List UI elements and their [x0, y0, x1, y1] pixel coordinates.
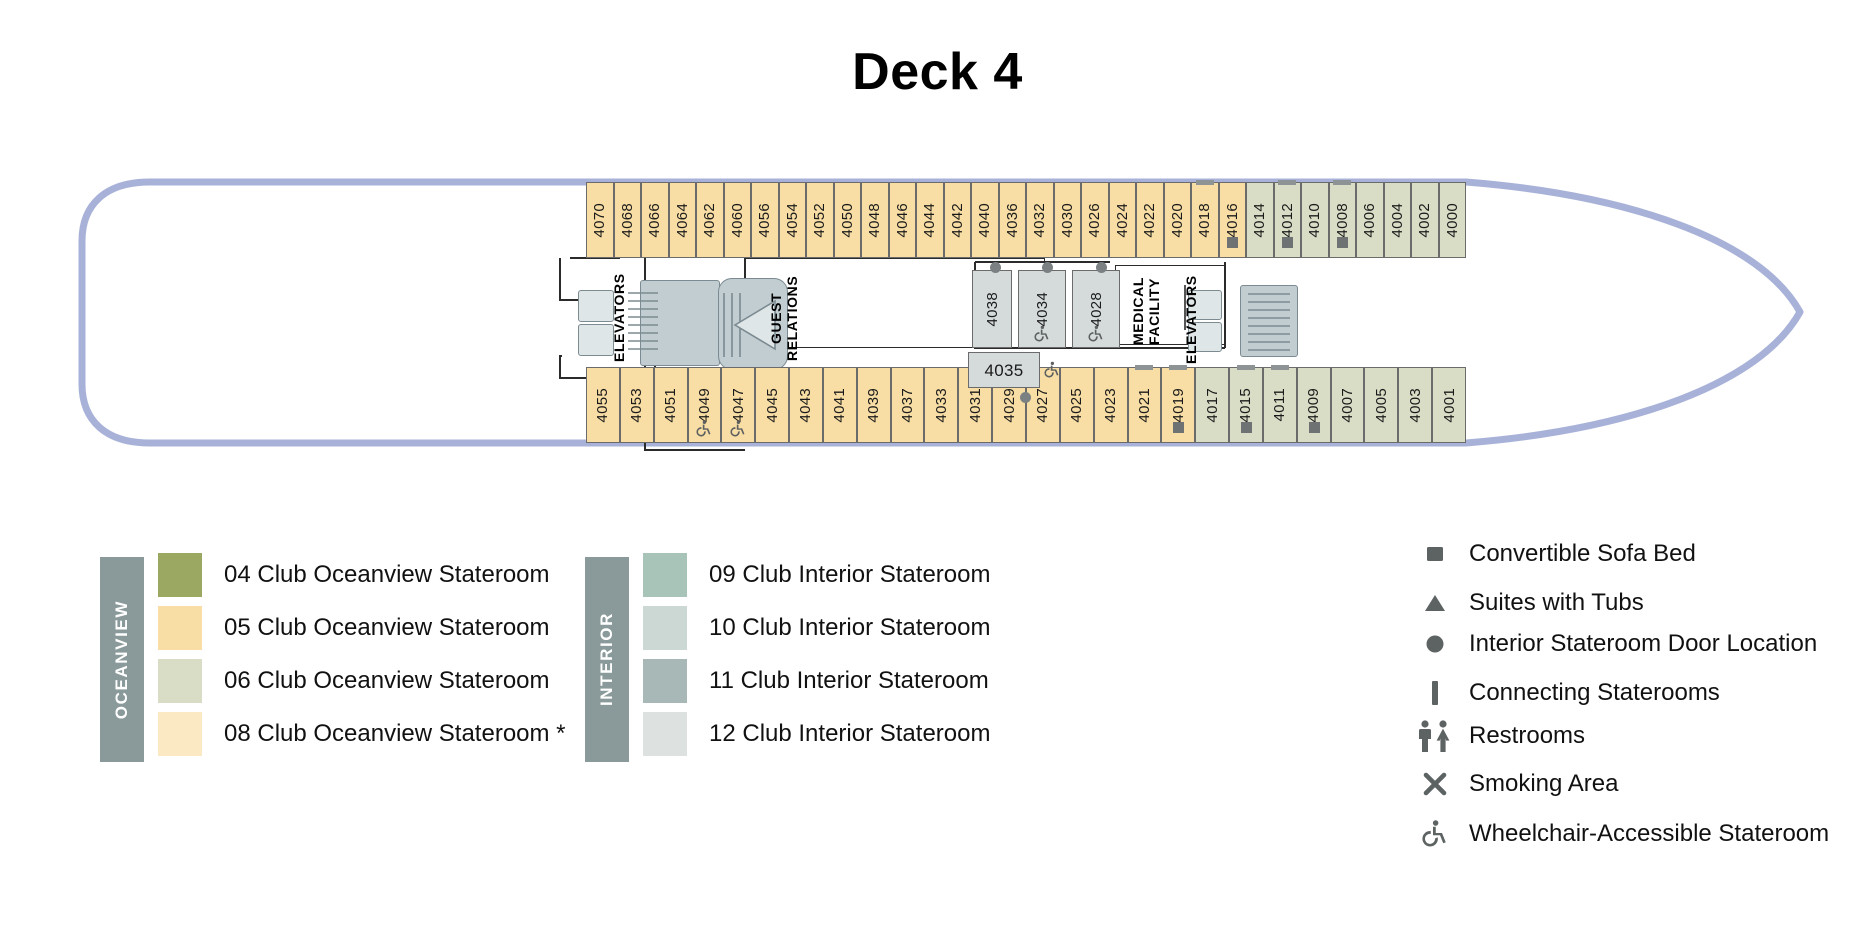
- stateroom-number: 4068: [620, 203, 635, 238]
- stateroom-number: 4014: [1252, 203, 1267, 238]
- stateroom-4026[interactable]: 4026: [1081, 182, 1109, 258]
- color-swatch: [158, 553, 202, 597]
- color-swatch: [158, 606, 202, 650]
- stateroom-4050[interactable]: 4050: [834, 182, 862, 258]
- suites-with-tubs-icon: [1415, 592, 1455, 614]
- stateroom-number: 4024: [1115, 203, 1130, 238]
- stateroom-number: 4005: [1374, 388, 1389, 423]
- stateroom-number: 4025: [1069, 388, 1084, 423]
- legend-label: 09 Club Interior Stateroom: [709, 561, 990, 589]
- legend-label: 10 Club Interior Stateroom: [709, 614, 990, 642]
- stateroom-4006[interactable]: 4006: [1356, 182, 1384, 258]
- stateroom-number: 4006: [1362, 203, 1377, 238]
- deck-plan-page: Deck 4: [0, 0, 1875, 938]
- stateroom-number: 4020: [1170, 203, 1185, 238]
- stateroom-number: 4050: [840, 203, 855, 238]
- convertible-sofa-bed-icon: [1337, 237, 1348, 248]
- interior-stateroom-door-location-icon: [1042, 262, 1053, 273]
- connecting-staterooms-icon: [1278, 180, 1296, 185]
- legend-interior-item-11[interactable]: 11 Club Interior Stateroom: [643, 659, 989, 703]
- legend-symbol-label: Convertible Sofa Bed: [1469, 540, 1696, 568]
- stateroom-number: 4023: [1103, 388, 1118, 423]
- stateroom-4068[interactable]: 4068: [614, 182, 642, 258]
- stateroom-number: 4038: [985, 292, 1000, 327]
- stateroom-4047[interactable]: 4047: [721, 367, 755, 443]
- color-swatch: [158, 659, 202, 703]
- stateroom-4056[interactable]: 4056: [751, 182, 779, 258]
- stateroom-4060[interactable]: 4060: [724, 182, 752, 258]
- stateroom-number: 4062: [702, 203, 717, 238]
- stateroom-4049[interactable]: 4049: [688, 367, 722, 443]
- stateroom-4045[interactable]: 4045: [755, 367, 789, 443]
- stateroom-4053[interactable]: 4053: [620, 367, 654, 443]
- stateroom-4055[interactable]: 4055: [586, 367, 620, 443]
- legend-interior-item-09[interactable]: 09 Club Interior Stateroom: [643, 553, 990, 597]
- interior-stateroom-door-location-icon: [990, 262, 1001, 273]
- stateroom-number: 4030: [1060, 203, 1075, 238]
- stateroom-4040[interactable]: 4040: [971, 182, 999, 258]
- legend-label: 06 Club Oceanview Stateroom: [224, 667, 550, 695]
- stateroom-4052[interactable]: 4052: [806, 182, 834, 258]
- legend-symbol-row[interactable]: Convertible Sofa Bed: [1415, 537, 1696, 571]
- stateroom-4024[interactable]: 4024: [1109, 182, 1137, 258]
- legend-symbol-row[interactable]: Suites with Tubs: [1415, 586, 1644, 620]
- legend-symbol-label: Interior Stateroom Door Location: [1469, 630, 1817, 658]
- legend-symbol-row[interactable]: Interior Stateroom Door Location: [1415, 627, 1817, 661]
- stateroom-4048[interactable]: 4048: [861, 182, 889, 258]
- legend-interior-item-12[interactable]: 12 Club Interior Stateroom: [643, 712, 990, 756]
- elevators-aft-label: ELEVATORS: [612, 282, 627, 362]
- stateroom-4002[interactable]: 4002: [1411, 182, 1439, 258]
- stateroom-number: 4007: [1340, 388, 1355, 423]
- stateroom-number: 4047: [731, 388, 746, 423]
- legend-symbol-label: Restrooms: [1469, 722, 1585, 750]
- convertible-sofa-bed-icon: [1282, 237, 1293, 248]
- color-swatch: [643, 606, 687, 650]
- stateroom-4011[interactable]: 4011: [1263, 367, 1297, 443]
- legend-symbol-row[interactable]: Connecting Staterooms: [1415, 676, 1720, 710]
- stateroom-number: 4048: [867, 203, 882, 238]
- stateroom-4039[interactable]: 4039: [857, 367, 891, 443]
- stateroom-number: 4056: [757, 203, 772, 238]
- stateroom-number: 4027: [1035, 388, 1050, 423]
- stateroom-number: 4064: [675, 203, 690, 238]
- stateroom-number: 4011: [1272, 388, 1287, 421]
- stateroom-number: 4016: [1225, 203, 1240, 238]
- stateroom-number: 4044: [922, 203, 937, 238]
- stateroom-number: 4049: [697, 388, 712, 423]
- stateroom-4054[interactable]: 4054: [779, 182, 807, 258]
- stateroom-number: 4026: [1087, 203, 1102, 238]
- restrooms-icon: [1415, 719, 1455, 753]
- legend-oceanview-item-05[interactable]: 05 Club Oceanview Stateroom: [158, 606, 550, 650]
- stateroom-4010[interactable]: 4010: [1301, 182, 1329, 258]
- stateroom-number: 4002: [1417, 203, 1432, 238]
- stateroom-number: 4043: [798, 388, 813, 423]
- interior-stateroom-door-location-icon: [1096, 262, 1107, 273]
- stateroom-4041[interactable]: 4041: [823, 367, 857, 443]
- stateroom-4036[interactable]: 4036: [999, 182, 1027, 258]
- stateroom-number: 4012: [1280, 203, 1295, 238]
- stateroom-number: 4051: [663, 388, 678, 423]
- stateroom-number: 4019: [1171, 388, 1186, 423]
- stateroom-number: 4039: [866, 388, 881, 423]
- stateroom-number: 4055: [595, 388, 610, 423]
- stateroom-4004[interactable]: 4004: [1384, 182, 1412, 258]
- stair-steps-fwd: [1236, 282, 1316, 364]
- stateroom-4001[interactable]: 4001: [1432, 367, 1466, 443]
- legend-label: 11 Club Interior Stateroom: [709, 667, 989, 695]
- interior-stateroom-4038[interactable]: 4038: [972, 270, 1012, 348]
- deck-plan-drawing: ELEVATORS ELEVATORS GUEST RELATIONS MEDI…: [0, 0, 1875, 520]
- stateroom-4051[interactable]: 4051: [654, 367, 688, 443]
- connecting-staterooms-icon: [1196, 180, 1214, 185]
- legend-symbol-row[interactable]: Restrooms: [1415, 719, 1585, 753]
- stateroom-number: 4004: [1390, 203, 1405, 238]
- stateroom-4000[interactable]: 4000: [1439, 182, 1467, 258]
- stateroom-4042[interactable]: 4042: [944, 182, 972, 258]
- stateroom-4037[interactable]: 4037: [891, 367, 925, 443]
- stateroom-number: 4066: [647, 203, 662, 238]
- stateroom-number: 4042: [950, 203, 965, 238]
- stateroom-number: 4060: [730, 203, 745, 238]
- stateroom-4032[interactable]: 4032: [1026, 182, 1054, 258]
- stateroom-number: 4018: [1197, 203, 1212, 238]
- stateroom-4007[interactable]: 4007: [1331, 367, 1365, 443]
- stateroom-4023[interactable]: 4023: [1094, 367, 1128, 443]
- stateroom-4021[interactable]: 4021: [1128, 367, 1162, 443]
- legend-symbol-label: Suites with Tubs: [1469, 589, 1644, 617]
- stateroom-4030[interactable]: 4030: [1054, 182, 1082, 258]
- wheelchair-accessible-stateroom-icon: [1043, 361, 1061, 379]
- stateroom-number: 4001: [1442, 388, 1457, 423]
- interior-stateroom-4035[interactable]: 4035: [968, 352, 1040, 388]
- stateroom-4003[interactable]: 4003: [1398, 367, 1432, 443]
- stateroom-4046[interactable]: 4046: [889, 182, 917, 258]
- color-swatch: [643, 659, 687, 703]
- stateroom-4020[interactable]: 4020: [1164, 182, 1192, 258]
- stateroom-number: 4008: [1335, 203, 1350, 238]
- stateroom-number: 4000: [1445, 203, 1460, 238]
- stateroom-4017[interactable]: 4017: [1195, 367, 1229, 443]
- interior-stateroom-4034[interactable]: 4034: [1018, 270, 1066, 348]
- stateroom-number: 4046: [895, 203, 910, 238]
- stateroom-number: 4040: [977, 203, 992, 238]
- wheelchair-accessible-stateroom-icon: [1033, 325, 1051, 343]
- color-swatch: [158, 712, 202, 756]
- legend-symbol-label: Wheelchair-Accessible Stateroom: [1469, 820, 1829, 848]
- legend-label: 08 Club Oceanview Stateroom *: [224, 720, 566, 748]
- smoking-area-icon: [1415, 771, 1455, 797]
- convertible-sofa-bed-icon: [1241, 422, 1252, 433]
- interior-category-bar: INTERIOR: [585, 557, 629, 762]
- stateroom-number: 4033: [934, 388, 949, 423]
- convertible-sofa-bed-icon: [1415, 543, 1455, 565]
- stateroom-number: 4034: [1035, 292, 1050, 327]
- stateroom-4005[interactable]: 4005: [1364, 367, 1398, 443]
- wheelchair-accessible-stateroom-icon: [695, 420, 713, 438]
- stateroom-4064[interactable]: 4064: [669, 182, 697, 258]
- stateroom-4008[interactable]: 4008: [1329, 182, 1357, 258]
- elevators-fwd-label: ELEVATORS: [1184, 288, 1199, 364]
- stateroom-number: 4032: [1032, 203, 1047, 238]
- stateroom-4016[interactable]: 4016: [1219, 182, 1247, 258]
- medical-facility-label: MEDICAL FACILITY: [1130, 272, 1162, 350]
- stateroom-4009[interactable]: 4009: [1297, 367, 1331, 443]
- oceanview-category-bar: OCEANVIEW: [100, 557, 144, 762]
- interior-category-label: INTERIOR: [597, 612, 617, 706]
- interior-stateroom-door-location-icon: [1415, 633, 1455, 655]
- color-swatch: [643, 553, 687, 597]
- stateroom-4015[interactable]: 4015: [1229, 367, 1263, 443]
- stateroom-4033[interactable]: 4033: [924, 367, 958, 443]
- stateroom-number: 4031: [968, 388, 983, 423]
- stateroom-number: 4036: [1005, 203, 1020, 238]
- connecting-staterooms-icon: [1271, 365, 1289, 370]
- legend-symbol-row[interactable]: Smoking Area: [1415, 767, 1618, 801]
- interior-stateroom-4028[interactable]: 4028: [1072, 270, 1120, 348]
- convertible-sofa-bed-icon: [1227, 237, 1238, 248]
- stateroom-4018[interactable]: 4018: [1191, 182, 1219, 258]
- stateroom-number: 4035: [984, 362, 1023, 379]
- wheelchair-accessible-stateroom-icon: [729, 420, 747, 438]
- stateroom-number: 4052: [812, 203, 827, 238]
- stateroom-number: 4037: [900, 388, 915, 423]
- connecting-staterooms-icon: [1135, 365, 1153, 370]
- color-swatch: [643, 712, 687, 756]
- stateroom-4043[interactable]: 4043: [789, 367, 823, 443]
- stateroom-number: 4070: [592, 203, 607, 238]
- legend-oceanview-item-06[interactable]: 06 Club Oceanview Stateroom: [158, 659, 550, 703]
- stateroom-4019[interactable]: 4019: [1161, 367, 1195, 443]
- stateroom-number: 4045: [765, 388, 780, 423]
- oceanview-category-label: OCEANVIEW: [112, 600, 132, 719]
- legend-label: 04 Club Oceanview Stateroom: [224, 561, 550, 589]
- legend-oceanview-item-08[interactable]: 08 Club Oceanview Stateroom *: [158, 712, 566, 756]
- wheelchair-accessible-stateroom-icon: [1415, 819, 1455, 849]
- stateroom-number: 4010: [1307, 203, 1322, 238]
- convertible-sofa-bed-icon: [1173, 422, 1184, 433]
- stateroom-number: 4021: [1137, 388, 1152, 423]
- stateroom-number: 4009: [1306, 388, 1321, 423]
- stateroom-4025[interactable]: 4025: [1060, 367, 1094, 443]
- stateroom-number: 4015: [1238, 388, 1253, 423]
- stateroom-4066[interactable]: 4066: [641, 182, 669, 258]
- stateroom-4012[interactable]: 4012: [1274, 182, 1302, 258]
- stateroom-number: 4017: [1205, 388, 1220, 423]
- connecting-staterooms-icon: [1169, 365, 1187, 370]
- legend-interior-item-10[interactable]: 10 Club Interior Stateroom: [643, 606, 990, 650]
- stateroom-4044[interactable]: 4044: [916, 182, 944, 258]
- stateroom-4014[interactable]: 4014: [1246, 182, 1274, 258]
- connecting-staterooms-icon: [1415, 679, 1455, 707]
- wheelchair-accessible-stateroom-icon: [1087, 325, 1105, 343]
- legend: OCEANVIEW 04 Club Oceanview Stateroom05 …: [0, 545, 1875, 938]
- stateroom-number: 4028: [1089, 292, 1104, 327]
- stateroom-number: 4041: [832, 388, 847, 423]
- legend-symbol-label: Smoking Area: [1469, 770, 1618, 798]
- legend-symbol-label: Connecting Staterooms: [1469, 679, 1720, 707]
- legend-label: 12 Club Interior Stateroom: [709, 720, 990, 748]
- stateroom-number: 4054: [785, 203, 800, 238]
- legend-oceanview-item-04[interactable]: 04 Club Oceanview Stateroom: [158, 553, 550, 597]
- guest-relations-label: GUEST RELATIONS: [768, 272, 800, 364]
- connecting-staterooms-icon: [1333, 180, 1351, 185]
- stateroom-4022[interactable]: 4022: [1136, 182, 1164, 258]
- stateroom-4070[interactable]: 4070: [586, 182, 614, 258]
- legend-label: 05 Club Oceanview Stateroom: [224, 614, 550, 642]
- stateroom-number: 4053: [629, 388, 644, 423]
- stateroom-number: 4029: [1002, 388, 1017, 423]
- stateroom-number: 4022: [1142, 203, 1157, 238]
- stateroom-number: 4003: [1408, 388, 1423, 423]
- stateroom-4062[interactable]: 4062: [696, 182, 724, 258]
- interior-stateroom-door-location-icon: [1020, 392, 1031, 403]
- legend-symbol-row[interactable]: Wheelchair-Accessible Stateroom: [1415, 817, 1829, 851]
- connecting-staterooms-icon: [1237, 365, 1255, 370]
- convertible-sofa-bed-icon: [1309, 422, 1320, 433]
